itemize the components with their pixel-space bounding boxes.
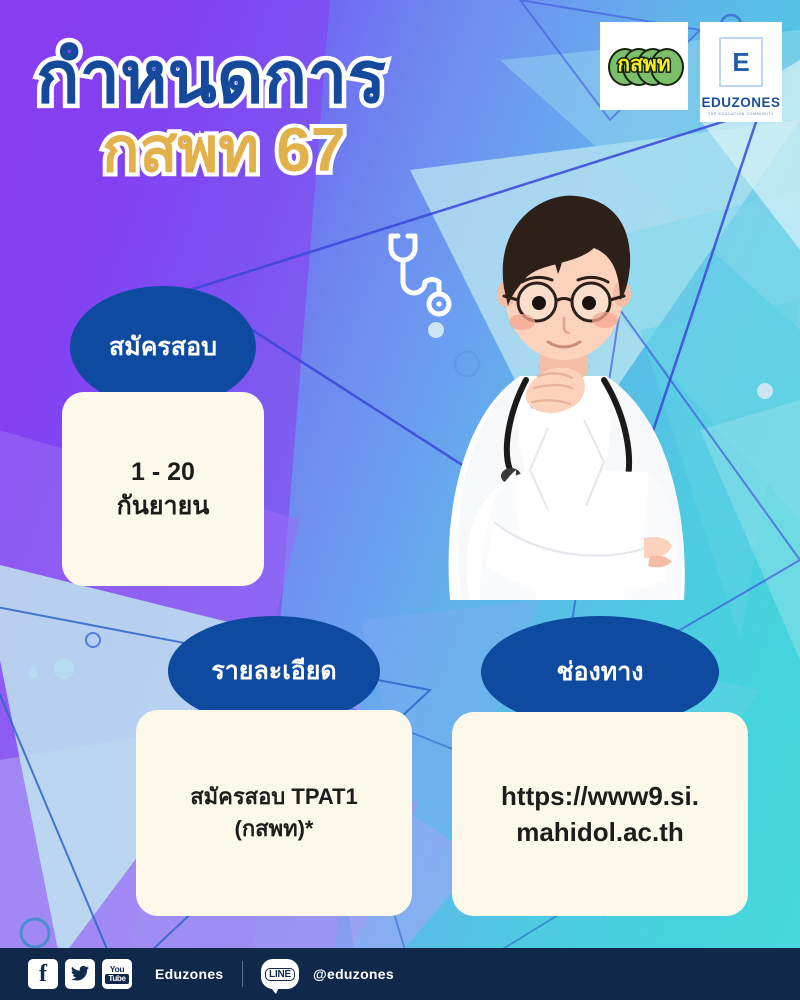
poster-root: กำหนดการ กสพท 67 กสพท E EDUZONES THE EDU…	[0, 0, 800, 1000]
eduzones-wordmark: EDUZONES	[701, 95, 780, 110]
line-icon-label: LINE	[265, 968, 295, 981]
stethoscope-icon	[378, 228, 458, 328]
card-detail-header-label: รายละเอียด	[211, 651, 336, 691]
card-channel-header-label: ช่องทาง	[557, 652, 644, 692]
eduzones-mark: E	[732, 49, 749, 75]
card-channel-line-2: mahidol.ac.th	[501, 814, 699, 850]
card-channel-line-1: https://www9.si.	[501, 778, 699, 814]
kaspat-logo-text: กสพท	[608, 50, 680, 80]
footer-divider	[242, 961, 244, 987]
youtube-icon-bottom: Tube	[105, 974, 128, 984]
twitter-icon[interactable]	[65, 959, 95, 989]
card-register-header: สมัครสอบ	[70, 286, 256, 408]
eduzones-logo: E EDUZONES THE EDUCATION COMMUNITY	[700, 22, 782, 122]
youtube-icon[interactable]: You Tube	[102, 959, 132, 989]
eduzones-tagline: THE EDUCATION COMMUNITY	[708, 112, 774, 116]
card-register-line-1: 1 - 20	[117, 455, 210, 490]
card-detail-body: สมัครสอบ TPAT1 (กสพท)*	[136, 710, 412, 916]
twitter-bird-glyph	[70, 965, 90, 983]
title-sub: กสพท 67	[102, 119, 466, 182]
card-detail-line-2: (กสพท)*	[190, 813, 358, 845]
card-register-body: 1 - 20 กันยายน	[62, 392, 264, 586]
facebook-icon[interactable]: f	[28, 959, 58, 989]
card-register-line-2: กันยายน	[117, 489, 210, 524]
card-register: สมัครสอบ 1 - 20 กันยายน	[62, 286, 264, 586]
footer-handle: @eduzones	[313, 966, 394, 982]
poster-title: กำหนดการ กสพท 67	[36, 42, 466, 183]
title-main: กำหนดการ	[36, 42, 466, 115]
footer-brand: Eduzones	[155, 966, 224, 982]
card-detail: รายละเอียด สมัครสอบ TPAT1 (กสพท)*	[136, 616, 412, 916]
footer-bar: f You Tube Eduzones LINE @eduzones	[0, 948, 800, 1000]
line-icon[interactable]: LINE	[261, 959, 299, 989]
card-register-header-label: สมัครสอบ	[109, 327, 217, 367]
eduzones-mark-box: E	[719, 37, 763, 87]
kaspat-logo-art: กสพท	[608, 46, 680, 86]
card-detail-line-1: สมัครสอบ TPAT1	[190, 781, 358, 813]
card-channel-body[interactable]: https://www9.si. mahidol.ac.th	[452, 712, 748, 916]
card-channel: ช่องทาง https://www9.si. mahidol.ac.th	[452, 616, 748, 916]
kaspat-logo: กสพท	[600, 22, 688, 110]
logo-group: กสพท E EDUZONES THE EDUCATION COMMUNITY	[600, 22, 782, 122]
youtube-icon-top: You	[110, 965, 125, 973]
